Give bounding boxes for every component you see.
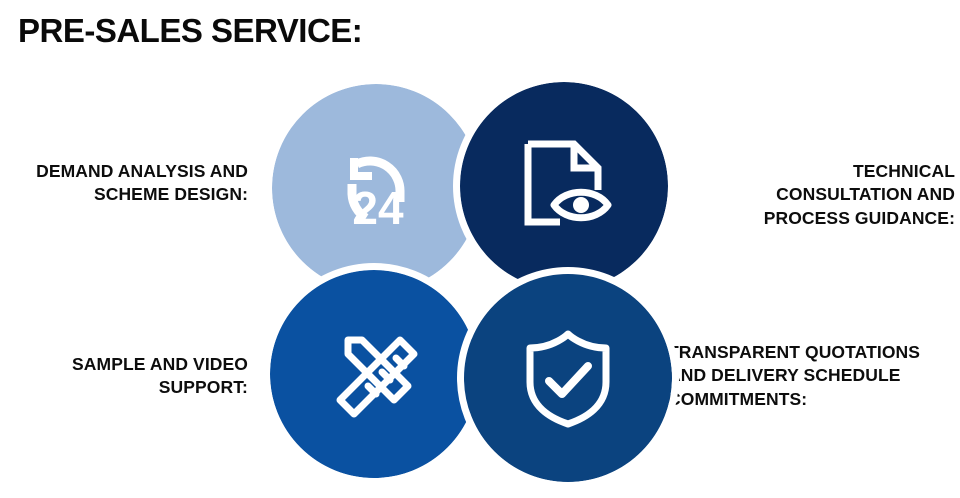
label-technical-consultation: TECHNICAL CONSULTATION AND PROCESS GUIDA… xyxy=(727,160,955,230)
shield-check-icon xyxy=(516,326,620,430)
label-demand-analysis: DEMAND ANALYSIS AND SCHEME DESIGN: xyxy=(0,160,248,207)
circle-demand-analysis[interactable]: 24 xyxy=(272,84,480,292)
pencil-ruler-icon xyxy=(320,320,428,428)
circle-technical-consultation[interactable] xyxy=(460,82,668,290)
icon-container xyxy=(464,274,672,482)
document-eye-icon xyxy=(512,134,616,238)
circle-transparent-quotations[interactable] xyxy=(464,274,672,482)
circle-sample-video-support[interactable] xyxy=(270,270,478,478)
icon-container xyxy=(460,82,668,290)
icon-container: 24 xyxy=(272,84,480,292)
service-circle-cluster: 24 xyxy=(268,80,678,490)
label-transparent-quotations: TRANSPARENT QUOTATIONS AND DELIVERY SCHE… xyxy=(668,341,960,411)
icon-container xyxy=(270,270,478,478)
page-title: PRE-SALES SERVICE: xyxy=(18,12,362,50)
icon-24-text: 24 xyxy=(352,182,404,234)
label-sample-video-support: SAMPLE AND VIDEO SUPPORT: xyxy=(0,353,248,400)
clock-24-rotate-icon: 24 xyxy=(320,132,432,244)
